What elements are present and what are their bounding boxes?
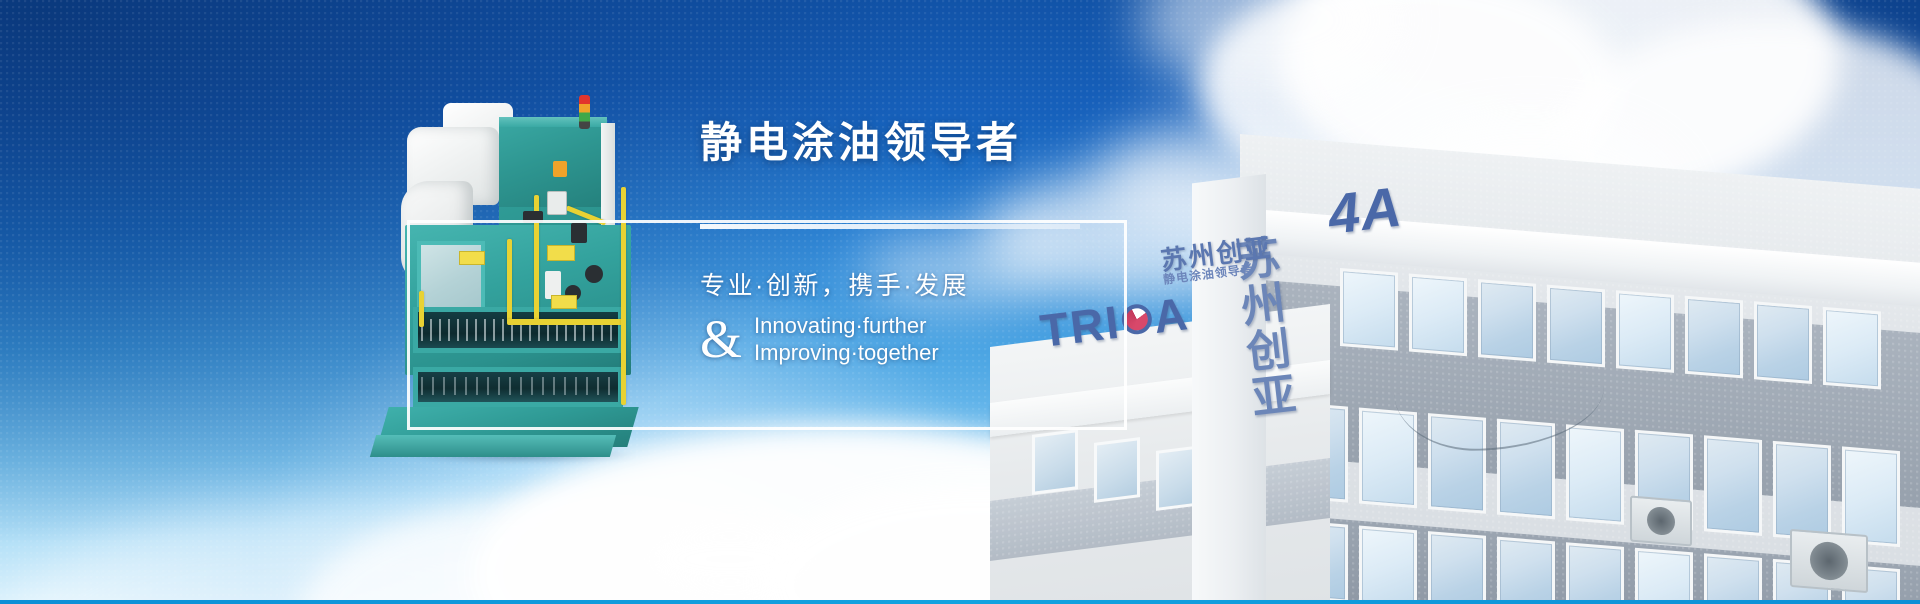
banner-copy-block: 静电涂油领导者 专业·创新，携手·发展 & Innovating·further… [700, 120, 1340, 166]
air-conditioner-icon [1790, 529, 1868, 593]
headline-divider-rule [700, 224, 1080, 229]
english-slogan-lines: Innovating·further Improving·together [754, 312, 939, 367]
english-slogan-line1: Innovating·further [754, 312, 939, 339]
banner-english-slogan: & Innovating·further Improving·together [700, 312, 939, 367]
front-window-2 [1094, 437, 1140, 503]
air-conditioner-icon-small [1630, 496, 1692, 547]
banner-headline: 静电涂油领导者 [700, 120, 1340, 166]
machine-filter-unit [547, 191, 567, 215]
ampersand-glyph: & [700, 312, 742, 366]
machine-valve-1 [553, 161, 567, 177]
trioa-logo-text-part2: A [1151, 286, 1193, 344]
front-window-1 [1032, 429, 1078, 495]
hero-banner: 苏州创亚 TRI A 苏州创亚 静电涂油领导者 4A [0, 0, 1920, 604]
english-slogan-line2: Improving·together [754, 339, 939, 366]
banner-subtitle-chinese: 专业·创新，携手·发展 [700, 266, 969, 302]
machine-foot-rail [370, 435, 616, 457]
bottom-accent-strip [0, 600, 1920, 604]
signal-tower-lamp-icon [579, 95, 590, 129]
building-unit-number: 4A [1325, 173, 1406, 246]
